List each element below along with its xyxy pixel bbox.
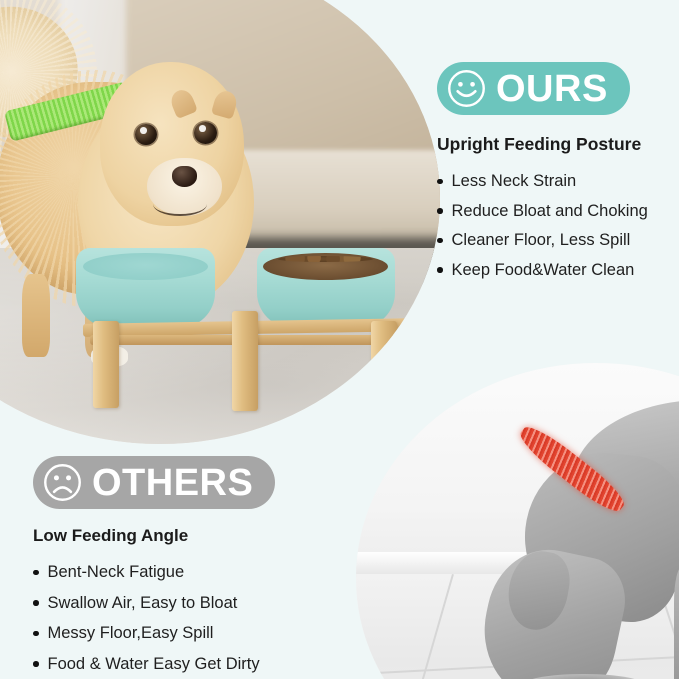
bullet-dot-icon [437, 238, 443, 244]
ours-badge-label: OURS [496, 70, 608, 108]
list-item: Food & Water Easy Get Dirty [33, 656, 333, 673]
others-subtitle: Low Feeding Angle [33, 526, 333, 546]
list-item: Messy Floor,Easy Spill [33, 625, 333, 642]
water-bowl [76, 248, 215, 328]
bullet-dot-icon [33, 570, 39, 576]
ours-bullet-text: Keep Food&Water Clean [452, 262, 635, 279]
food-bowl [257, 248, 396, 328]
food-bowl-interior [263, 253, 388, 280]
bullet-dot-icon [33, 631, 39, 637]
list-item: Bent-Neck Fatigue [33, 564, 333, 581]
ours-benefit-list: Less Neck Strain Reduce Bloat and Chokin… [437, 173, 679, 278]
others-bullet-text: Messy Floor,Easy Spill [48, 625, 214, 642]
bullet-dot-icon [437, 208, 443, 214]
photo-others-lifestyle [356, 363, 679, 679]
ours-bullet-text: Cleaner Floor, Less Spill [452, 232, 631, 249]
bamboo-leg-left [93, 321, 119, 408]
dog-eye-right [194, 122, 217, 144]
water-surface [83, 253, 208, 280]
others-badge-label: OTHERS [92, 464, 253, 502]
ours-bullet-text: Reduce Bloat and Choking [452, 203, 648, 220]
bamboo-leg-center [232, 311, 258, 411]
grey-dog-leg-front [674, 566, 679, 679]
large-grey-dog [462, 385, 679, 679]
bullet-dot-icon [33, 661, 39, 667]
dog-mouth [153, 192, 206, 216]
ours-bullet-text: Less Neck Strain [452, 173, 577, 190]
comparison-infographic: OURS Upright Feeding Posture Less Neck S… [0, 0, 679, 679]
smiley-face-icon [446, 68, 487, 109]
list-item: Less Neck Strain [437, 173, 679, 190]
dog-ear-right [211, 89, 239, 120]
bullet-dot-icon [33, 600, 39, 606]
list-item: Swallow Air, Easy to Bloat [33, 595, 333, 612]
others-bullet-text: Food & Water Easy Get Dirty [48, 656, 260, 673]
others-badge: OTHERS [33, 456, 275, 509]
list-item: Keep Food&Water Clean [437, 262, 679, 279]
ours-badge: OURS [437, 62, 630, 115]
ours-panel: OURS Upright Feeding Posture Less Neck S… [437, 62, 679, 291]
others-bullet-text: Bent-Neck Fatigue [48, 564, 185, 581]
others-drawback-list: Bent-Neck Fatigue Swallow Air, Easy to B… [33, 564, 333, 672]
list-item: Cleaner Floor, Less Spill [437, 232, 679, 249]
bullet-dot-icon [437, 267, 443, 273]
ours-subtitle: Upright Feeding Posture [437, 134, 679, 155]
bullet-dot-icon [437, 179, 443, 185]
others-panel: OTHERS Low Feeding Angle Bent-Neck Fatig… [33, 456, 333, 679]
kibble-pile [278, 256, 373, 263]
sad-face-icon [42, 462, 83, 503]
others-bullet-text: Swallow Air, Easy to Bloat [48, 595, 238, 612]
list-item: Reduce Bloat and Choking [437, 203, 679, 220]
dog-leg-front [22, 274, 50, 356]
dog-ear-left [168, 87, 198, 120]
